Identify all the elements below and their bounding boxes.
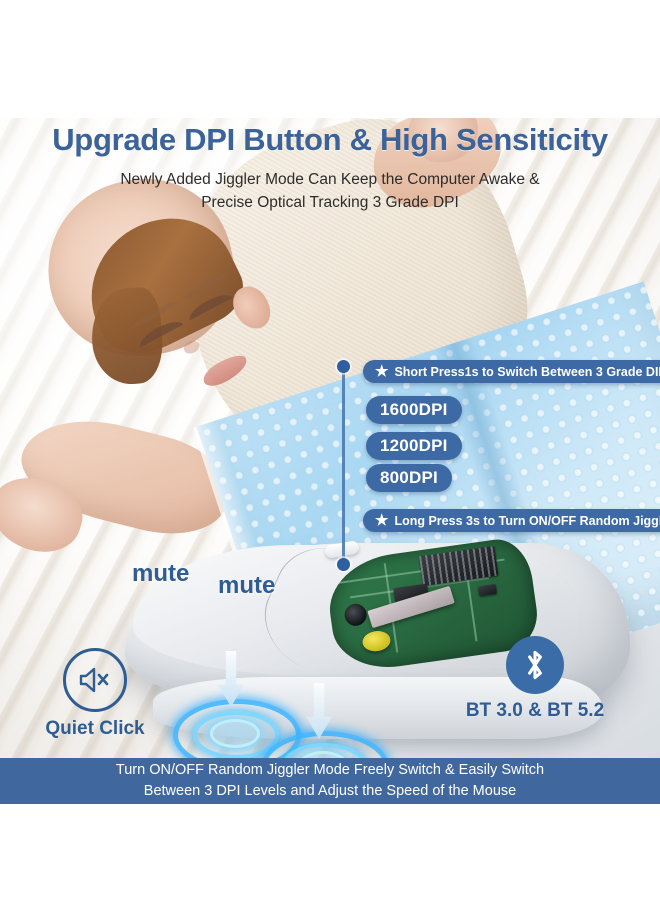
bottom-banner: Turn ON/OFF Random Jiggler Mode Freely S… bbox=[0, 758, 660, 804]
leader-dot-top bbox=[337, 360, 350, 373]
dpi-1600-label: 1600DPI bbox=[380, 400, 448, 420]
pcb-chip-tiny bbox=[478, 584, 497, 596]
ripple-ring-inner bbox=[210, 719, 260, 748]
callout-dpi-800: 800DPI bbox=[366, 464, 452, 492]
feature-quiet-caption: Quiet Click bbox=[15, 718, 175, 740]
bluetooth-icon bbox=[506, 636, 564, 694]
product-feature-image: ★ bbox=[0, 0, 660, 900]
pcb-chip-main bbox=[419, 546, 498, 586]
chip-pins bbox=[419, 546, 498, 586]
callout-dpi-1600: 1600DPI bbox=[366, 396, 462, 424]
page-subtitle: Newly Added Jiggler Mode Can Keep the Co… bbox=[0, 168, 660, 214]
pcb-capacitor-yellow bbox=[361, 629, 392, 653]
dpi-1200-label: 1200DPI bbox=[380, 436, 448, 456]
subtitle-line-2: Precise Optical Tracking 3 Grade DPI bbox=[201, 194, 459, 211]
pcb-capacitor-black bbox=[343, 602, 368, 627]
leader-dot-bottom bbox=[337, 558, 350, 571]
star-icon: ★ bbox=[375, 364, 388, 379]
callout-short-press: ★ Short Press1s to Switch Between 3 Grad… bbox=[363, 360, 660, 383]
mute-label-right: mute bbox=[218, 572, 275, 600]
callout-dpi-1200: 1200DPI bbox=[366, 432, 462, 460]
star-icon: ★ bbox=[375, 513, 388, 528]
banner-line-1: Turn ON/OFF Random Jiggler Mode Freely S… bbox=[116, 760, 544, 781]
feature-bluetooth: BT 3.0 & BT 5.2 bbox=[455, 636, 615, 722]
feature-bluetooth-caption: BT 3.0 & BT 5.2 bbox=[455, 700, 615, 722]
banner-line-2: Between 3 DPI Levels and Adjust the Spee… bbox=[144, 781, 516, 802]
dpi-800-label: 800DPI bbox=[380, 468, 438, 488]
callout-long-press-label: Long Press 3s to Turn ON/OFF Random Jigg… bbox=[394, 514, 660, 528]
mute-label-left: mute bbox=[132, 560, 189, 588]
speaker-mute-icon bbox=[63, 648, 127, 712]
subtitle-line-1: Newly Added Jiggler Mode Can Keep the Co… bbox=[120, 171, 539, 188]
callout-short-press-label: Short Press1s to Switch Between 3 Grade … bbox=[394, 365, 660, 379]
page-title: Upgrade DPI Button & High Sensiticity bbox=[0, 122, 660, 158]
callout-leader-line bbox=[342, 366, 345, 566]
feature-quiet-click: Quiet Click bbox=[15, 648, 175, 740]
callout-long-press: ★ Long Press 3s to Turn ON/OFF Random Ji… bbox=[363, 509, 660, 532]
